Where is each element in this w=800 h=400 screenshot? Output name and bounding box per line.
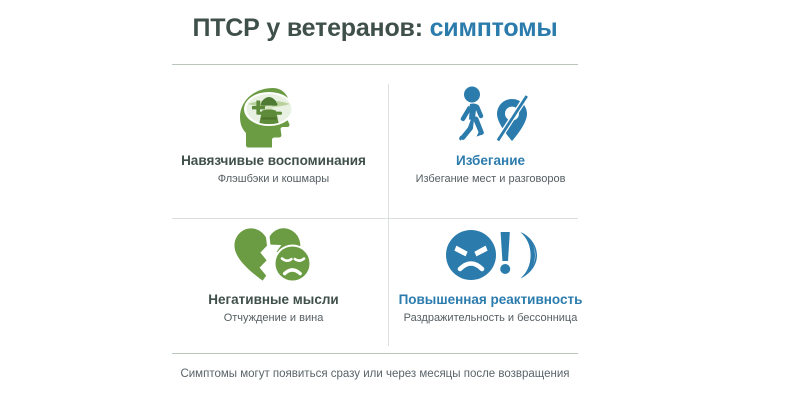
content-column: ПТСР у ветеранов: симптомы: [172, 0, 578, 400]
page-title: ПТСР у ветеранов: симптомы: [172, 14, 578, 43]
quadrant-label: Избегание: [389, 153, 592, 168]
quadrant-subtitle: Избегание мест и разговоров: [389, 173, 592, 185]
quadrant-label: Негативные мысли: [172, 292, 375, 307]
quadrant-label: Повышенная реактивность: [389, 292, 592, 307]
quadrant-avoidance: Избегание Избегание мест и разговоров: [389, 82, 592, 214]
head-with-soldier-icon: [172, 82, 375, 150]
grid-horizontal-divider: [172, 218, 578, 219]
walking-person-no-location-icon: [389, 82, 592, 150]
quadrant-hyperarousal: Повышенная реактивность Раздражительност…: [389, 221, 592, 353]
quadrant-negative-thoughts: Негативные мысли Отчуждение и вина: [172, 221, 375, 353]
quadrant-subtitle: Флэшбэки и кошмары: [172, 173, 375, 185]
title-main: ПТСР у ветеранов:: [192, 14, 422, 42]
symptom-grid: Навязчивые воспоминания Флэшбэки и кошма…: [172, 82, 578, 346]
title-divider: [172, 64, 578, 65]
ptsd-symptoms-infographic: ПТСР у ветеранов: симптомы: [0, 0, 800, 400]
quadrant-subtitle: Раздражительность и бессонница: [389, 312, 592, 324]
quadrant-subtitle: Отчуждение и вина: [172, 312, 375, 324]
quadrant-intrusive-memories: Навязчивые воспоминания Флэшбэки и кошма…: [172, 82, 375, 214]
broken-heart-sad-face-icon: [172, 221, 375, 289]
angry-face-exclamation-moon-icon: [389, 221, 592, 289]
footer-note: Симптомы могут появиться сразу или через…: [172, 368, 578, 380]
title-text: ПТСР у ветеранов: симптомы: [172, 14, 578, 43]
quadrant-label: Навязчивые воспоминания: [172, 153, 375, 168]
title-accent: симптомы: [423, 14, 558, 42]
footer-divider: [172, 353, 578, 354]
